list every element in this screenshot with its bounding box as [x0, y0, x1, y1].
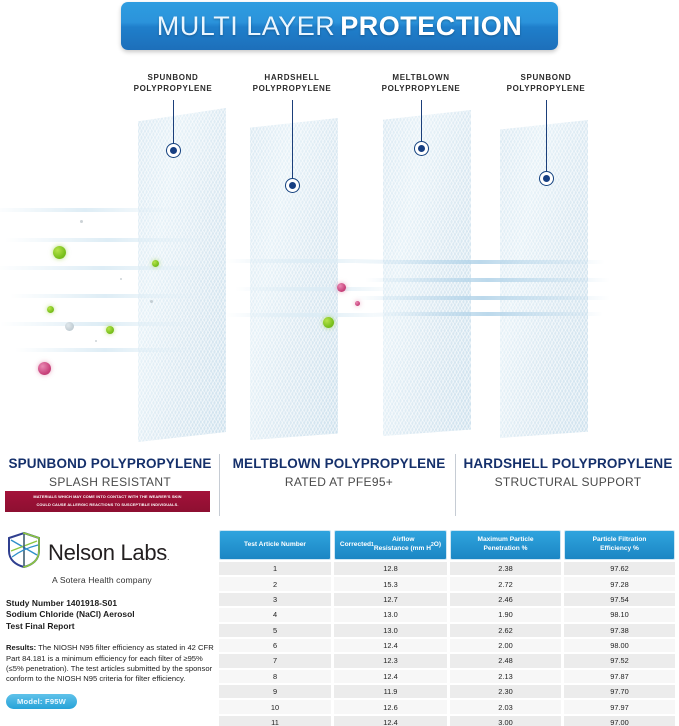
table-row: 112.82.3897.62	[219, 562, 675, 575]
table-cell: 12.4	[334, 670, 447, 683]
table-header-filtration-efficiency: Particle FiltrationEfficiency %	[564, 530, 675, 560]
table-header-max-penetration: Maximum ParticlePenetration %	[450, 530, 561, 560]
table-row: 1112.43.0097.00	[219, 716, 675, 726]
warning-line-2: COULD CAUSE ALLERGIC REACTIONS TO SUSCEP…	[5, 501, 210, 509]
nelson-labs-shield-icon	[6, 531, 42, 574]
table-row: 612.42.0098.00	[219, 639, 675, 652]
table-cell: 11.9	[334, 685, 447, 698]
table-cell: 2.00	[450, 639, 561, 652]
table-row: 312.72.4697.54	[219, 593, 675, 606]
table-cell: 2	[219, 577, 331, 590]
study-report-type: Test Final Report	[6, 621, 214, 632]
model-badge: Model: F95W	[6, 694, 77, 709]
table-cell: 2.03	[450, 700, 561, 713]
nelson-labs-logo-row: Nelson Labs.	[6, 531, 214, 574]
table-cell: 97.28	[564, 577, 675, 590]
callout-3-line2: POLYPROPYLENE	[361, 83, 481, 94]
table-cell: 97.97	[564, 700, 675, 713]
callout-layer-3: MELTBLOWN POLYPROPYLENE	[361, 72, 481, 94]
table-cell: 97.70	[564, 685, 675, 698]
mid-section-3-title: HARDSHELL POLYPROPYLENE	[457, 456, 679, 471]
section-divider-2	[455, 454, 456, 516]
table-cell: 2.48	[450, 654, 561, 667]
table-cell: 6	[219, 639, 331, 652]
callout-4-line1: SPUNBOND	[521, 73, 572, 82]
nelson-labs-wordmark: Nelson Labs.	[48, 540, 169, 566]
table-cell: 98.00	[564, 639, 675, 652]
table-cell: 97.38	[564, 624, 675, 637]
table-row: 413.01.9098.10	[219, 608, 675, 621]
callout-3-leader-line	[421, 100, 422, 142]
header-banner: MULTI LAYER PROTECTION	[121, 2, 558, 50]
nelson-labs-block: Nelson Labs. A Sotera Health company Stu…	[6, 531, 214, 709]
table-cell: 2.13	[450, 670, 561, 683]
table-header-airflow-resistance: Corrected1 AirflowResistance (mm H2O)	[334, 530, 447, 560]
table-cell: 98.10	[564, 608, 675, 621]
study-number: Study Number 1401918-S01	[6, 598, 214, 609]
table-cell: 2.38	[450, 562, 561, 575]
layer-panel-hardshell	[250, 118, 338, 440]
callout-3-marker-icon	[414, 141, 429, 156]
table-cell: 10	[219, 700, 331, 713]
mid-section-2-title: MELTBLOWN POLYPROPYLENE	[224, 456, 454, 471]
table-row: 1012.62.0397.97	[219, 700, 675, 713]
infographic-page: MULTI LAYER PROTECTION	[0, 0, 679, 726]
table-row: 812.42.1397.87	[219, 670, 675, 683]
mid-section-2-subtitle: RATED AT PFE95+	[224, 475, 454, 489]
nelson-labs-name-text: Nelson Labs	[48, 540, 167, 565]
banner-light-text: MULTI LAYER	[157, 11, 336, 41]
test-results-table: Test Article Number Corrected1 AirflowRe…	[219, 530, 675, 726]
table-cell: 15.3	[334, 577, 447, 590]
table-row: 513.02.6297.38	[219, 624, 675, 637]
table-cell: 9	[219, 685, 331, 698]
study-meta: Study Number 1401918-S01 Sodium Chloride…	[6, 598, 214, 632]
mid-section-hardshell: HARDSHELL POLYPROPYLENE STRUCTURAL SUPPO…	[457, 456, 679, 489]
table-cell: 13.0	[334, 608, 447, 621]
table-cell: 3.00	[450, 716, 561, 726]
table-cell: 5	[219, 624, 331, 637]
table-row: 911.92.3097.70	[219, 685, 675, 698]
layer-panel-spunbond-outer	[138, 108, 226, 442]
table-cell: 1.90	[450, 608, 561, 621]
table-row: 712.32.4897.52	[219, 654, 675, 667]
table-cell: 3	[219, 593, 331, 606]
table-cell: 7	[219, 654, 331, 667]
table-cell: 12.8	[334, 562, 447, 575]
results-label: Results:	[6, 643, 36, 652]
banner-bold-text: PROTECTION	[340, 11, 522, 41]
table-row: 215.32.7297.28	[219, 577, 675, 590]
header-banner-wrap: MULTI LAYER PROTECTION	[0, 2, 679, 50]
study-results-paragraph: Results: The NIOSH N95 filter efficiency…	[6, 643, 214, 685]
mid-section-3-subtitle: STRUCTURAL SUPPORT	[457, 475, 679, 489]
callout-4-marker-icon	[539, 171, 554, 186]
mid-section-meltblown: MELTBLOWN POLYPROPYLENE RATED AT PFE95+	[224, 456, 454, 489]
layer-panel-meltblown	[383, 110, 471, 436]
callout-4-leader-line	[546, 100, 547, 172]
callout-1-line2: POLYPROPYLENE	[113, 83, 233, 94]
table-cell: 97.62	[564, 562, 675, 575]
callout-2-line2: POLYPROPYLENE	[232, 83, 352, 94]
table-cell: 2.46	[450, 593, 561, 606]
callout-layer-1: SPUNBOND POLYPROPYLENE	[113, 72, 233, 94]
mid-section-1-title: SPUNBOND POLYPROPYLENE	[0, 456, 220, 471]
section-divider-1	[219, 454, 220, 516]
table-cell: 8	[219, 670, 331, 683]
results-text: The NIOSH N95 filter efficiency as state…	[6, 643, 214, 683]
table-cell: 97.54	[564, 593, 675, 606]
table-cell: 2.72	[450, 577, 561, 590]
nelson-labs-tagline: A Sotera Health company	[52, 575, 214, 585]
mid-sections: SPUNBOND POLYPROPYLENE SPLASH RESISTANT …	[0, 452, 679, 524]
table-header-test-article-number: Test Article Number	[219, 530, 331, 560]
table-body: 112.82.3897.62215.32.7297.28312.72.4697.…	[219, 562, 675, 726]
callout-layer-2: HARDSHELL POLYPROPYLENE	[232, 72, 352, 94]
callout-1-marker-icon	[166, 143, 181, 158]
callout-4-line2: POLYPROPYLENE	[486, 83, 606, 94]
layer-panel-spunbond-inner	[500, 120, 588, 438]
table-header-row: Test Article Number Corrected1 AirflowRe…	[219, 530, 675, 560]
table-cell: 12.4	[334, 639, 447, 652]
table-cell: 12.4	[334, 716, 447, 726]
table-cell: 12.6	[334, 700, 447, 713]
mid-section-1-subtitle: SPLASH RESISTANT	[0, 475, 220, 489]
callout-3-line1: MELTBLOWN	[392, 73, 449, 82]
table-cell: 97.87	[564, 670, 675, 683]
table-cell: 4	[219, 608, 331, 621]
table-cell: 12.3	[334, 654, 447, 667]
allergy-warning-banner: MATERIALS WHICH MAY COME INTO CONTACT WI…	[5, 491, 210, 512]
callout-2-marker-icon	[285, 178, 300, 193]
table-cell: 2.62	[450, 624, 561, 637]
table-cell: 12.7	[334, 593, 447, 606]
table-cell: 11	[219, 716, 331, 726]
callout-2-line1: HARDSHELL	[264, 73, 319, 82]
table-cell: 97.52	[564, 654, 675, 667]
nelson-labs-registered-mark: .	[167, 552, 169, 562]
callout-2-leader-line	[292, 100, 293, 179]
callout-1-leader-line	[173, 100, 174, 144]
callout-1-line1: SPUNBOND	[148, 73, 199, 82]
table-cell: 2.30	[450, 685, 561, 698]
study-aerosol: Sodium Chloride (NaCl) Aerosol	[6, 609, 214, 620]
warning-line-1: MATERIALS WHICH MAY COME INTO CONTACT WI…	[5, 493, 210, 501]
table-cell: 13.0	[334, 624, 447, 637]
table-cell: 97.00	[564, 716, 675, 726]
table-cell: 1	[219, 562, 331, 575]
callout-layer-4: SPUNBOND POLYPROPYLENE	[486, 72, 606, 94]
mid-section-spunbond: SPUNBOND POLYPROPYLENE SPLASH RESISTANT	[0, 456, 220, 489]
